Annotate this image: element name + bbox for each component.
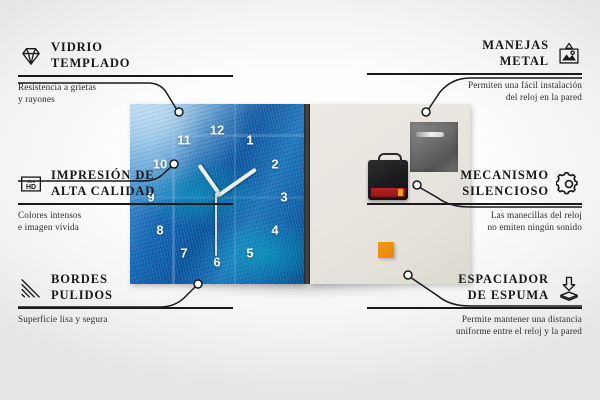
callout-header: VIDRIO TEMPLADO: [18, 40, 233, 71]
callout-subtitle-line2: uniforme entre el reloj y la pared: [367, 325, 582, 337]
callout-subtitle-line1: Resistencia a grietas: [18, 81, 233, 93]
callout-rule: [367, 307, 582, 308]
callout-rule: [18, 75, 233, 76]
svg-text:HD: HD: [26, 184, 36, 191]
gear-icon: [556, 171, 582, 197]
callout-subtitle-line2: del reloj en la pared: [367, 91, 582, 103]
callout-header: MECANISMO SILENCIOSO: [367, 168, 582, 199]
callout-title: VIDRIO TEMPLADO: [51, 40, 130, 71]
callout-subtitle-line1: Superficie lisa y segura: [18, 313, 233, 325]
callout-rule: [367, 73, 582, 74]
clock-numeral-12: 12: [210, 124, 224, 137]
callout-header: ultra HD IMPRESIÓN DE ALTA CALIDAD: [18, 168, 233, 199]
callout-vidrio-templado: VIDRIO TEMPLADO Resistencia a grietas y …: [18, 40, 233, 105]
clock-numeral-6: 6: [213, 256, 220, 269]
metal-hanger-plate: [410, 122, 458, 172]
clock-numeral-7: 7: [180, 247, 187, 260]
picture-frame-hook-icon: [556, 41, 582, 67]
callout-header: ESPACIADOR DE ESPUMA: [367, 272, 582, 303]
clock-numeral-4: 4: [271, 224, 278, 237]
callout-rule: [18, 307, 233, 308]
arrow-down-onto-pad-icon: [556, 275, 582, 301]
callout-subtitle-line2: no emiten ningún sonido: [367, 221, 582, 233]
callout-subtitle-line1: Las manecillas del reloj: [367, 209, 582, 221]
callout-subtitle-line1: Permiten una fácil instalación: [367, 79, 582, 91]
infographic-stage: 12 1 2 3 4 5 6 7 8 9 10 11: [0, 0, 600, 400]
callout-impresion-alta-calidad: ultra HD IMPRESIÓN DE ALTA CALIDAD Color…: [18, 168, 233, 233]
callout-title: MANEJAS METAL: [482, 38, 549, 69]
callout-manejas-metal: MANEJAS METAL Permiten una fácil instala…: [367, 38, 582, 103]
diamond-icon: [18, 43, 44, 69]
clock-numeral-5: 5: [246, 247, 253, 260]
callout-subtitle-line2: y rayones: [18, 93, 233, 105]
callout-subtitle-line1: Colores intensos: [18, 209, 233, 221]
mechanism-hanger-loop: [378, 153, 402, 165]
hanger-slot: [416, 132, 444, 137]
clock-numeral-11: 11: [177, 134, 191, 147]
callout-title: BORDES PULIDOS: [51, 272, 113, 303]
callout-subtitle-line1: Permite mantener una distancia: [367, 313, 582, 325]
callout-bordes-pulidos: BORDES PULIDOS Superficie lisa y segura: [18, 272, 233, 325]
callout-mecanismo-silencioso: MECANISMO SILENCIOSO Las manecillas del …: [367, 168, 582, 233]
callout-rule: [367, 203, 582, 204]
callout-header: MANEJAS METAL: [367, 38, 582, 69]
callout-title: MECANISMO SILENCIOSO: [460, 168, 549, 199]
callout-header: BORDES PULIDOS: [18, 272, 233, 303]
clock-numeral-1: 1: [246, 134, 253, 147]
polished-edges-icon: [18, 275, 44, 301]
clock-numeral-3: 3: [280, 191, 287, 204]
clock-numeral-2: 2: [271, 158, 278, 171]
callout-rule: [18, 203, 233, 204]
ultra-hd-icon: ultra HD: [18, 171, 44, 197]
callout-subtitle-line2: e imagen vívida: [18, 221, 233, 233]
foam-spacer-square: [378, 242, 394, 258]
callout-title: IMPRESIÓN DE ALTA CALIDAD: [51, 168, 155, 199]
callout-title: ESPACIADOR DE ESPUMA: [458, 272, 549, 303]
callout-espaciador-espuma: ESPACIADOR DE ESPUMA Permite mantener un…: [367, 272, 582, 337]
